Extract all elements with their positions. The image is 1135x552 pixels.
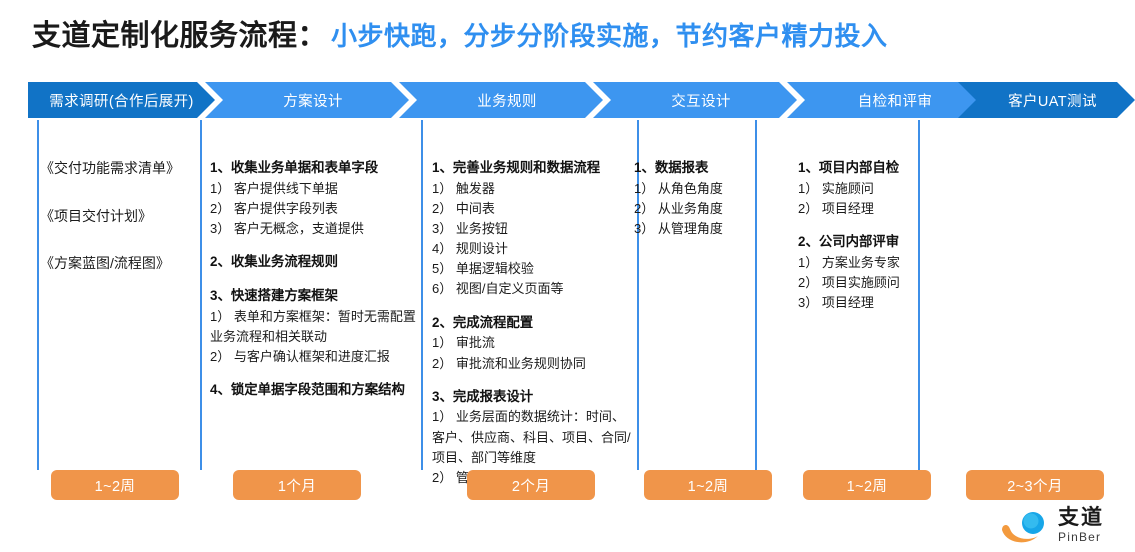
task-block-heading: 3、快速搭建方案框架 xyxy=(210,286,420,307)
task-item: 2） 从业务角度 xyxy=(634,199,754,219)
stage-content-1: 《交付功能需求清单》《项目交付计划》《方案蓝图/流程图》 xyxy=(40,158,198,301)
task-block: 2、完成流程配置1） 审批流2） 审批流和业务规则协同 xyxy=(432,313,637,374)
task-item: 2） 项目实施顾问 xyxy=(798,273,928,293)
task-item: 3） 项目经理 xyxy=(798,293,928,313)
duration-pill-6: 2~3个月 xyxy=(966,470,1104,500)
stage-arrow-2[interactable]: 方案设计 xyxy=(205,82,409,118)
task-block: 2、公司内部评审1） 方案业务专家2） 项目实施顾问3） 项目经理 xyxy=(798,232,928,313)
stage-content-3: 1、完善业务规则和数据流程1） 触发器2） 中间表3） 业务按钮4） 规则设计5… xyxy=(432,158,637,488)
page-title-main: 支道定制化服务流程： xyxy=(32,12,327,54)
task-block-heading: 4、锁定单据字段范围和方案结构 xyxy=(210,380,420,401)
stage-arrow-label: 交互设计 xyxy=(659,90,731,111)
stage-content-4: 1、数据报表1） 从角色角度2） 从业务角度3） 从管理角度 xyxy=(634,158,754,239)
stage-content-2: 1、收集业务单据和表单字段1） 客户提供线下单据2） 客户提供字段列表3） 客户… xyxy=(210,158,420,401)
task-item: 2） 审批流和业务规则协同 xyxy=(432,354,637,374)
column-divider-5 xyxy=(755,120,757,470)
stage-arrow-label: 客户UAT测试 xyxy=(996,90,1097,111)
duration-pill-4: 1~2周 xyxy=(644,470,772,500)
stage-arrow-label: 业务规则 xyxy=(465,90,537,111)
task-block-heading: 2、完成流程配置 xyxy=(432,313,637,334)
task-item: 2） 与客户确认框架和进度汇报 xyxy=(210,347,420,367)
column-divider-3 xyxy=(421,120,423,470)
task-block-heading: 2、公司内部评审 xyxy=(798,232,928,253)
logo-name-cn: 支道 xyxy=(1058,507,1104,528)
task-item: 5） 单据逻辑校验 xyxy=(432,259,637,279)
stage-arrow-6[interactable]: 客户UAT测试 xyxy=(958,82,1135,118)
task-item: 2） 中间表 xyxy=(432,199,637,219)
task-item: 1） 表单和方案框架：暂时无需配置业务流程和相关联动 xyxy=(210,307,420,347)
stage-arrow-band: 需求调研(合作后展开)方案设计业务规则交互设计自检和评审客户UAT测试 xyxy=(0,82,1135,118)
stage-arrow-label: 自检和评审 xyxy=(846,90,933,111)
duration-pill-1: 1~2周 xyxy=(51,470,179,500)
duration-pill-3: 2个月 xyxy=(467,470,595,500)
stage-arrow-1[interactable]: 需求调研(合作后展开) xyxy=(28,82,215,118)
task-item: 1） 客户提供线下单据 xyxy=(210,179,420,199)
task-block-heading: 1、项目内部自检 xyxy=(798,158,928,179)
stage-arrow-3[interactable]: 业务规则 xyxy=(399,82,603,118)
task-block: 1、数据报表1） 从角色角度2） 从业务角度3） 从管理角度 xyxy=(634,158,754,239)
task-block-heading: 1、收集业务单据和表单字段 xyxy=(210,158,420,179)
deliverable-document: 《交付功能需求清单》 xyxy=(40,158,198,180)
task-item: 3） 客户无概念，支道提供 xyxy=(210,219,420,239)
task-block-heading: 1、数据报表 xyxy=(634,158,754,179)
task-block: 1、收集业务单据和表单字段1） 客户提供线下单据2） 客户提供字段列表3） 客户… xyxy=(210,158,420,239)
stage-arrow-5[interactable]: 自检和评审 xyxy=(787,82,991,118)
task-block: 1、项目内部自检1） 实施顾问2） 项目经理 xyxy=(798,158,928,219)
task-item: 1） 实施顾问 xyxy=(798,179,928,199)
task-item: 1） 审批流 xyxy=(432,333,637,353)
stage-content-5: 1、项目内部自检1） 实施顾问2） 项目经理2、公司内部评审1） 方案业务专家2… xyxy=(798,158,928,313)
deliverable-document: 《方案蓝图/流程图》 xyxy=(40,253,198,275)
task-block-heading: 2、收集业务流程规则 xyxy=(210,252,420,273)
task-item: 1） 方案业务专家 xyxy=(798,253,928,273)
column-divider-1 xyxy=(37,120,39,470)
logo-name-en: PinBer xyxy=(1058,531,1104,543)
logo-text: 支道 PinBer xyxy=(1058,507,1104,543)
duration-pill-2: 1个月 xyxy=(233,470,361,500)
page-title: 支道定制化服务流程： 小步快跑，分步分阶段实施，节约客户精力投入 xyxy=(32,12,1112,58)
stage-arrow-label: 方案设计 xyxy=(271,90,343,111)
task-block-heading: 1、完善业务规则和数据流程 xyxy=(432,158,637,179)
task-block-heading: 3、完成报表设计 xyxy=(432,387,637,408)
task-item: 2） 客户提供字段列表 xyxy=(210,199,420,219)
stage-arrow-4[interactable]: 交互设计 xyxy=(593,82,797,118)
brand-logo: 支道 PinBer xyxy=(1000,508,1132,548)
slide-canvas: 支道定制化服务流程： 小步快跑，分步分阶段实施，节约客户精力投入 需求调研(合作… xyxy=(0,0,1135,552)
duration-pill-5: 1~2周 xyxy=(803,470,931,500)
task-block: 1、完善业务规则和数据流程1） 触发器2） 中间表3） 业务按钮4） 规则设计5… xyxy=(432,158,637,300)
task-item: 2） 项目经理 xyxy=(798,199,928,219)
task-item: 6） 视图/自定义页面等 xyxy=(432,279,637,299)
task-item: 1） 从角色角度 xyxy=(634,179,754,199)
task-item: 1） 触发器 xyxy=(432,179,637,199)
logo-mark-icon xyxy=(1000,510,1054,546)
task-item: 3） 从管理角度 xyxy=(634,219,754,239)
task-block: 2、收集业务流程规则 xyxy=(210,252,420,273)
task-item: 3） 业务按钮 xyxy=(432,219,637,239)
task-block: 4、锁定单据字段范围和方案结构 xyxy=(210,380,420,401)
stage-arrow-label: 需求调研(合作后展开) xyxy=(49,90,194,111)
task-block: 3、快速搭建方案框架1） 表单和方案框架：暂时无需配置业务流程和相关联动2） 与… xyxy=(210,286,420,367)
task-item: 4） 规则设计 xyxy=(432,239,637,259)
page-title-accent: 小步快跑，分步分阶段实施，节约客户精力投入 xyxy=(331,16,888,53)
task-item: 1） 业务层面的数据统计：时间、客户、供应商、科目、项目、合同/项目、部门等维度 xyxy=(432,407,637,467)
deliverable-document: 《项目交付计划》 xyxy=(40,206,198,228)
column-divider-2 xyxy=(200,120,202,470)
